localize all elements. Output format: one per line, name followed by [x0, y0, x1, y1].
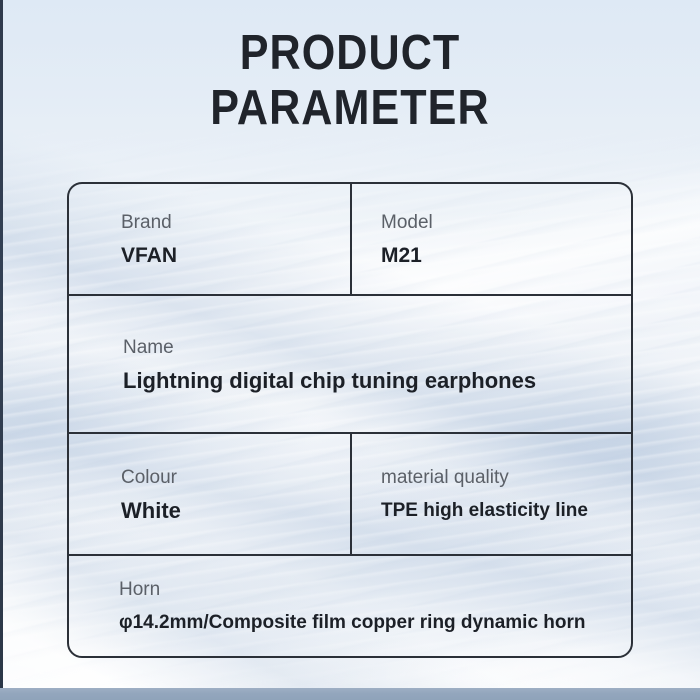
cell-label: Colour: [121, 466, 336, 489]
page-title-line-1: PRODUCT: [42, 26, 658, 81]
left-edge-strip: [0, 0, 3, 700]
cell-value: White: [121, 498, 336, 523]
page-title: PRODUCT PARAMETER: [42, 26, 658, 136]
cell-label: Model: [381, 211, 617, 234]
cell-label: material quality: [381, 466, 617, 489]
table-cell-model: Model M21: [350, 184, 631, 294]
cell-value: TPE high elasticity line: [381, 498, 617, 523]
cell-label: Horn: [119, 578, 617, 601]
cell-value: VFAN: [121, 243, 336, 268]
bottom-edge-band: [0, 688, 700, 700]
table-cell-brand: Brand VFAN: [69, 184, 350, 294]
cell-value: φ14.2mm/Composite film copper ring dynam…: [119, 610, 617, 635]
cell-value: M21: [381, 243, 617, 268]
table-cell-name: Name Lightning digital chip tuning earph…: [69, 296, 631, 432]
table-row: Horn φ14.2mm/Composite film copper ring …: [69, 554, 631, 656]
table-cell-horn: Horn φ14.2mm/Composite film copper ring …: [69, 556, 631, 656]
page-title-line-2: PARAMETER: [42, 81, 658, 136]
table-row: Colour White material quality TPE high e…: [69, 432, 631, 554]
cell-label: Name: [123, 336, 617, 359]
cell-value: Lightning digital chip tuning earphones: [123, 368, 617, 393]
table-row: Name Lightning digital chip tuning earph…: [69, 294, 631, 432]
product-parameter-page: PRODUCT PARAMETER Brand VFAN Model M21 N…: [0, 0, 700, 700]
table-cell-material-quality: material quality TPE high elasticity lin…: [350, 434, 631, 554]
table-row: Brand VFAN Model M21: [69, 184, 631, 294]
cell-label: Brand: [121, 211, 336, 234]
table-cell-colour: Colour White: [69, 434, 350, 554]
parameter-table: Brand VFAN Model M21 Name Lightning digi…: [67, 182, 633, 658]
